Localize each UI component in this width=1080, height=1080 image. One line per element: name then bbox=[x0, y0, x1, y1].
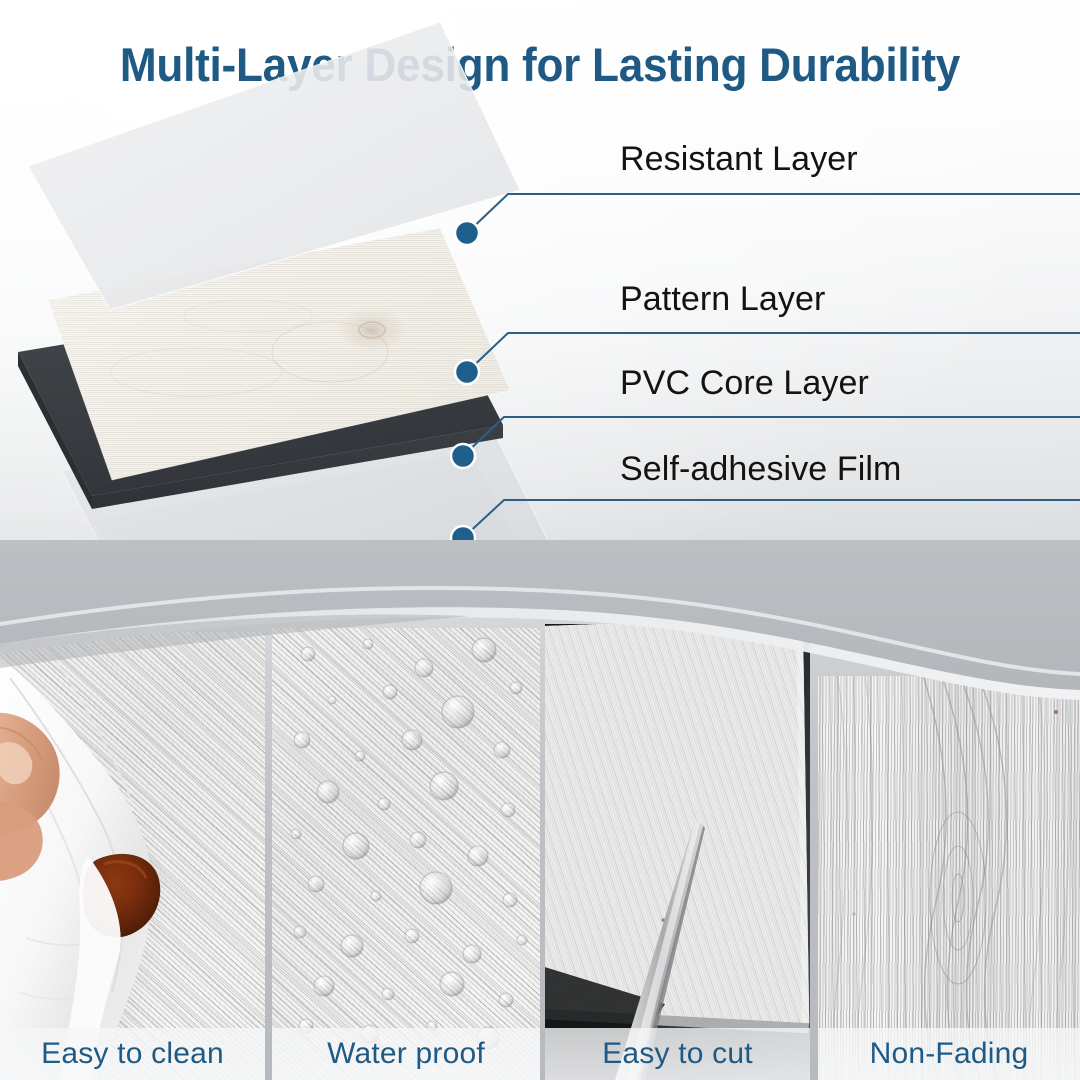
feature-caption-non-fading: Non-Fading bbox=[818, 1028, 1080, 1080]
wave-divider-svg bbox=[0, 540, 1080, 740]
feature-caption-easy-to-clean: Easy to clean bbox=[0, 1028, 265, 1080]
wave-divider bbox=[0, 540, 1080, 740]
feature-caption-water-proof: Water proof bbox=[272, 1028, 540, 1080]
infographic-canvas: Multi-Layer Design for Lasting Durabilit… bbox=[0, 0, 1080, 1080]
feature-caption-easy-to-cut: Easy to cut bbox=[545, 1028, 810, 1080]
